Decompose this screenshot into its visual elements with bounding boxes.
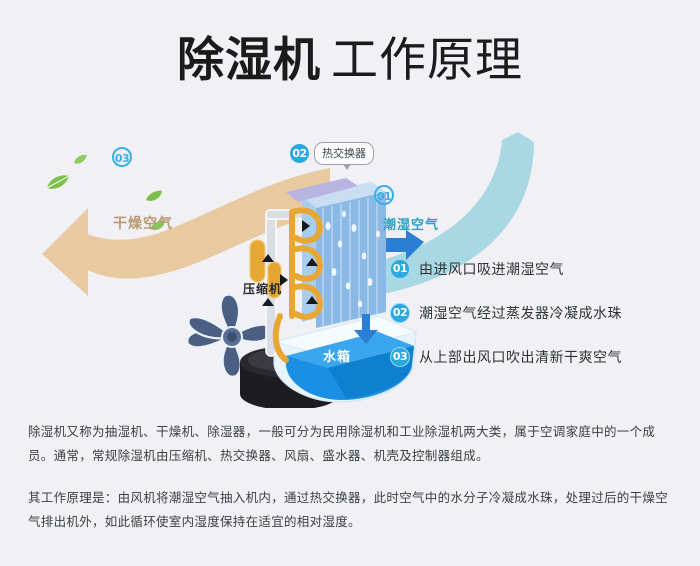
humid-air-badge: 01 <box>374 184 394 205</box>
legend-list: 01 由进风口吸进潮湿空气 02 潮湿空气经过蒸发器冷凝成水珠 03 从上部出风… <box>390 258 690 390</box>
compressor-label: 压缩机 <box>243 280 282 297</box>
legend-badge-03: 03 <box>390 347 410 367</box>
description-paragraph-1: 除湿机又称为抽湿机、干燥机、除湿器，一般可分为民用除湿机和工业除湿机两大类，属于… <box>28 420 676 468</box>
leaf-icon <box>146 190 163 203</box>
title-main: 除湿机 <box>177 33 321 88</box>
leaf-icon <box>74 154 88 165</box>
dry-air-badge: 03 <box>112 146 132 167</box>
title-sub: 工作原理 <box>331 33 523 88</box>
heat-exchanger-label: 02热交换器 <box>290 142 374 165</box>
water-tank-label: 水箱 <box>323 346 351 365</box>
leaf-icon <box>46 174 70 191</box>
infographic-page: 除湿机工作原理 <box>0 0 700 566</box>
page-title: 除湿机工作原理 <box>0 33 700 89</box>
legend-badge-01: 01 <box>390 259 410 279</box>
legend-text-03: 从上部出风口吹出清新干爽空气 <box>419 347 622 367</box>
list-item: 02 潮湿空气经过蒸发器冷凝成水珠 <box>390 302 690 324</box>
list-item: 03 从上部出风口吹出清新干爽空气 <box>390 346 690 368</box>
badge-02: 02 <box>290 144 309 163</box>
legend-text-01: 由进风口吸进潮湿空气 <box>419 259 564 279</box>
humid-air-label: 潮湿空气 <box>383 214 439 233</box>
heat-exchanger-bubble-text: 热交换器 <box>314 142 374 165</box>
legend-text-02: 潮湿空气经过蒸发器冷凝成水珠 <box>419 303 622 323</box>
description-block: 除湿机又称为抽湿机、干燥机、除湿器，一般可分为民用除湿机和工业除湿机两大类，属于… <box>28 420 676 534</box>
dry-air-label: 干燥空气 <box>113 213 173 233</box>
legend-badge-02: 02 <box>390 303 410 323</box>
badge-03: 03 <box>112 147 132 167</box>
list-item: 01 由进风口吸进潮湿空气 <box>390 258 690 280</box>
badge-01: 01 <box>374 185 394 205</box>
description-paragraph-2: 其工作原理是：由风机将潮湿空气抽入机内，通过热交换器，此时空气中的水分子冷凝成水… <box>28 486 676 534</box>
